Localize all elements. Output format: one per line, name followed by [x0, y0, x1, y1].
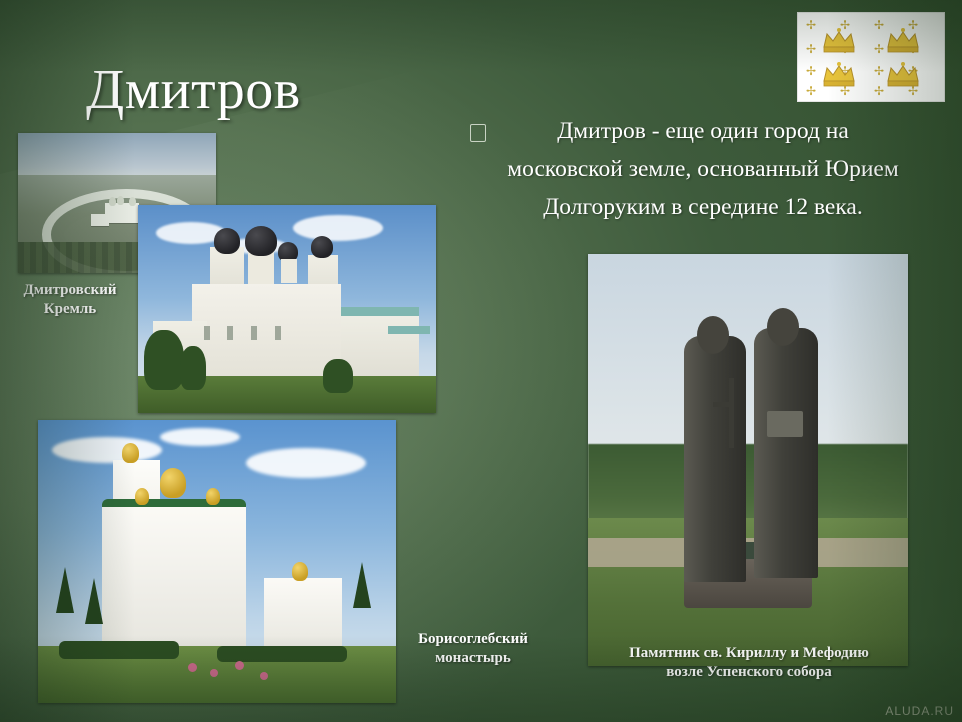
svg-text:✢: ✢ [874, 64, 884, 78]
svg-text:✢: ✢ [874, 84, 884, 98]
bullet-text: Дмитров - еще один город на московской з… [470, 112, 906, 226]
crowns-icon: ✢✢✢✢ ✢✢✢✢ ✢✢✢✢ ✢✢✢✢ [798, 13, 944, 101]
watermark: ALUDA.RU [885, 704, 954, 718]
bronze-figure-left [684, 336, 746, 582]
golden-dome [160, 468, 186, 498]
svg-text:✢: ✢ [806, 64, 816, 78]
golden-dome [122, 443, 139, 463]
flower [210, 669, 218, 677]
window [227, 326, 233, 340]
cross-staff [729, 378, 734, 448]
drum [248, 251, 274, 285]
caption-monument-line1: Памятник св. Кириллу и Мефодию [629, 645, 869, 661]
svg-text:✢: ✢ [806, 84, 816, 98]
flower [235, 661, 244, 670]
bullet-square-icon [470, 124, 486, 142]
green-roof [341, 307, 419, 316]
photo-monument [588, 254, 908, 666]
tree [180, 346, 206, 390]
green-roof [102, 499, 245, 507]
caption-monument: Памятник св. Кириллу и Мефодию возле Усп… [588, 644, 910, 682]
photo-cathedral [138, 205, 436, 413]
gospel-book [767, 411, 803, 437]
golden-dome [292, 562, 308, 581]
window [251, 326, 257, 340]
svg-text:✢: ✢ [874, 18, 884, 32]
drum [281, 259, 297, 283]
cloud [246, 448, 366, 478]
crowns-emblem-logo: ✢✢✢✢ ✢✢✢✢ ✢✢✢✢ ✢✢✢✢ [797, 12, 945, 102]
conifer-tree [85, 578, 103, 624]
bush [323, 359, 353, 393]
flower [260, 672, 268, 680]
conifer-tree [353, 562, 371, 608]
building [105, 203, 139, 223]
dome-dark [311, 236, 333, 258]
church-main-body [102, 505, 245, 647]
page-title: Дмитров [86, 58, 301, 122]
photo-monastery [38, 420, 396, 703]
svg-text:✢: ✢ [874, 42, 884, 56]
svg-text:✢: ✢ [806, 18, 816, 32]
caption-monastery: Борисоглебский монастырь [390, 630, 556, 668]
cathedral-dome [129, 197, 136, 206]
cross-staff-arm [713, 402, 731, 407]
conifer-tree [56, 567, 74, 613]
window [204, 326, 210, 340]
cathedral-dome [109, 197, 116, 206]
caption-kremlin: Дмитровский Кремль [8, 281, 132, 319]
dome-dark [245, 226, 277, 256]
golden-dome [206, 488, 220, 505]
dome-dark [214, 228, 240, 254]
figure-head [767, 308, 799, 346]
figure-head [697, 316, 729, 354]
bronze-figure-right [754, 328, 818, 578]
golden-dome [135, 488, 149, 505]
tree [144, 330, 184, 390]
hedge [217, 646, 347, 662]
cathedral-main-body [192, 284, 341, 384]
bullet-paragraph: Дмитров - еще один город на московской з… [470, 112, 906, 226]
svg-text:✢: ✢ [806, 42, 816, 56]
caption-monument-line2: возле Успенского собора [666, 664, 831, 680]
svg-text:✢: ✢ [840, 18, 850, 32]
presentation-slide: Дмитров ✢✢✢✢ ✢✢✢✢ ✢✢✢✢ ✢✢✢✢ [0, 0, 962, 722]
svg-text:✢: ✢ [908, 18, 918, 32]
cathedral-dome [117, 196, 124, 205]
window [275, 326, 281, 340]
building [91, 214, 109, 226]
sky-layer [18, 133, 216, 181]
hedge [59, 641, 179, 659]
green-roof [388, 326, 430, 334]
